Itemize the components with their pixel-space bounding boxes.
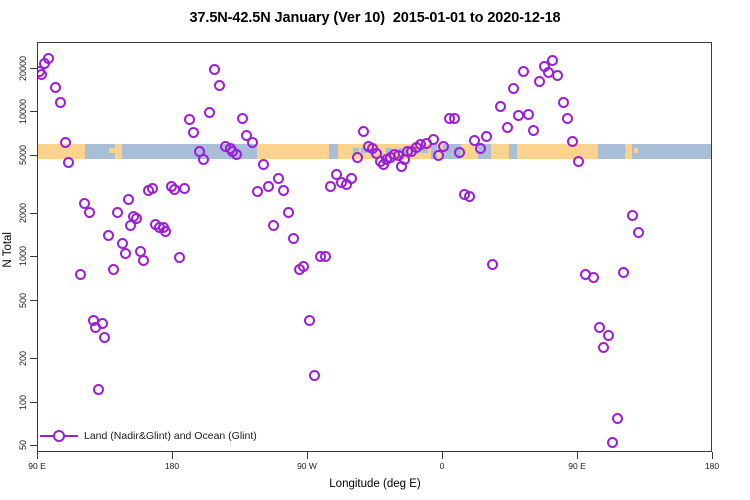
scatter-point [508, 83, 519, 94]
scatter-point [99, 332, 110, 343]
scatter-point [603, 330, 614, 341]
x-axis-tick [37, 452, 38, 459]
x-axis-tick [307, 452, 308, 459]
scatter-point [179, 183, 190, 194]
x-axis-tick [577, 452, 578, 459]
scatter-point [37, 69, 47, 80]
scatter-point [63, 157, 74, 168]
x-axis-tick-label: 180 [165, 461, 179, 471]
y-axis-tick [30, 155, 37, 156]
scatter-point [534, 76, 545, 87]
y-axis-tick-label: 200 [18, 336, 28, 380]
scatter-point [273, 173, 284, 184]
coastline-detail [95, 148, 100, 153]
scatter-point [231, 149, 242, 160]
y-axis-tick-label: 5000 [18, 133, 28, 177]
scatter-point [123, 194, 134, 205]
scatter-point [50, 82, 61, 93]
y-axis-title-label: N Total [2, 232, 14, 268]
scatter-point [612, 413, 623, 424]
scatter-point [562, 113, 573, 124]
scatter-point [75, 269, 86, 280]
scatter-point [214, 80, 225, 91]
scatter-point [433, 150, 444, 161]
y-axis-title: N Total [2, 0, 14, 500]
chart-legend: Land (Nadir&Glint) and Ocean (Glint) [40, 428, 257, 444]
scatter-point [84, 207, 95, 218]
scatter-point [320, 251, 331, 262]
scatter-point [188, 127, 199, 138]
coastline-detail [109, 148, 115, 153]
scatter-point [487, 259, 498, 270]
scatter-point [567, 136, 578, 147]
x-axis-tick [172, 452, 173, 459]
scatter-point [278, 185, 289, 196]
y-axis-tick-label: 10000 [18, 89, 28, 133]
ocean-segment [632, 144, 712, 159]
scatter-point [252, 186, 263, 197]
scatter-point [518, 66, 529, 77]
scatter-point [263, 181, 274, 192]
scatter-point [598, 342, 609, 353]
scatter-point [258, 159, 269, 170]
y-axis-tick [30, 256, 37, 257]
scatter-point [618, 267, 629, 278]
scatter-point [454, 147, 465, 158]
scatter-point [594, 322, 605, 333]
scatter-point [112, 207, 123, 218]
scatter-point [309, 370, 320, 381]
ocean-segment [509, 144, 517, 159]
scatter-point [204, 107, 215, 118]
scatter-point [198, 154, 209, 165]
plot-area [37, 42, 712, 452]
scatter-point [633, 227, 644, 238]
land-segment [517, 144, 579, 159]
scatter-point [346, 173, 357, 184]
scatter-point [449, 113, 460, 124]
scatter-point [428, 134, 439, 145]
x-axis-tick-label: 180 [705, 461, 719, 471]
scatter-point [358, 126, 369, 137]
y-axis-tick-label: 500 [18, 278, 28, 322]
scatter-point [558, 97, 569, 108]
scatter-point [97, 318, 108, 329]
y-axis-tick [30, 358, 37, 359]
legend-label: Land (Nadir&Glint) and Ocean (Glint) [84, 430, 257, 442]
scatter-point [209, 64, 220, 75]
y-axis-tick [30, 68, 37, 69]
scatter-point [481, 131, 492, 142]
x-axis-tick-label: 0 [440, 461, 445, 471]
legend-marker-icon [40, 429, 78, 443]
y-axis-tick [30, 402, 37, 403]
y-axis-tick-label: 1000 [18, 234, 28, 278]
x-axis-tick [442, 452, 443, 459]
chart-page: 37.5N-42.5N January (Ver 10) 2015-01-01 … [0, 0, 750, 500]
x-axis-tick-label: 90 E [568, 461, 586, 471]
ocean-segment [329, 144, 338, 159]
x-axis-tick-label: 90 W [297, 461, 317, 471]
y-axis-tick-label: 100 [18, 380, 28, 424]
scatter-point [147, 183, 158, 194]
coastline-detail [116, 148, 121, 153]
y-axis-tick [30, 111, 37, 112]
x-axis-title: Longitude (deg E) [0, 478, 750, 490]
scatter-point [552, 70, 563, 81]
scatter-point [528, 125, 539, 136]
coastline-detail [611, 148, 616, 153]
scatter-point [237, 113, 248, 124]
x-axis-tick-label: 90 E [28, 461, 46, 471]
scatter-point [573, 156, 584, 167]
land-segment [257, 144, 329, 159]
y-axis-tick [30, 213, 37, 214]
scatter-point [131, 213, 142, 224]
scatter-point [352, 152, 363, 163]
scatter-point [138, 255, 149, 266]
scatter-point [55, 97, 66, 108]
scatter-point [103, 230, 114, 241]
x-axis-tick [712, 452, 713, 459]
scatter-point [627, 210, 638, 221]
land-segment [491, 144, 509, 159]
scatter-point [184, 114, 195, 125]
coastline-detail [626, 148, 632, 153]
scatter-point [607, 437, 618, 448]
y-axis-tick [30, 445, 37, 446]
scatter-point [160, 226, 171, 237]
scatter-point [502, 122, 513, 133]
scatter-point [268, 220, 279, 231]
scatter-point [43, 53, 54, 64]
scatter-point [283, 207, 294, 218]
scatter-point [325, 181, 336, 192]
scatter-point [304, 315, 315, 326]
scatter-point [513, 110, 524, 121]
scatter-point [174, 252, 185, 263]
coastline-detail [634, 148, 639, 153]
scatter-point [288, 233, 299, 244]
y-axis-tick-label: 20000 [18, 46, 28, 90]
scatter-point [523, 109, 534, 120]
scatter-point [117, 238, 128, 249]
scatter-point [464, 191, 475, 202]
scatter-point [247, 137, 258, 148]
land-segment [38, 144, 58, 159]
scatter-point [108, 264, 119, 275]
scatter-point [588, 272, 599, 283]
y-axis-tick [30, 300, 37, 301]
y-axis-tick-label: 50 [18, 423, 28, 467]
scatter-point [298, 261, 309, 272]
scatter-point [495, 101, 506, 112]
scatter-point [547, 55, 558, 66]
scatter-point [120, 248, 131, 259]
y-axis-tick-label: 2000 [18, 191, 28, 235]
scatter-point [93, 384, 104, 395]
chart-title: 37.5N-42.5N January (Ver 10) 2015-01-01 … [0, 10, 750, 26]
